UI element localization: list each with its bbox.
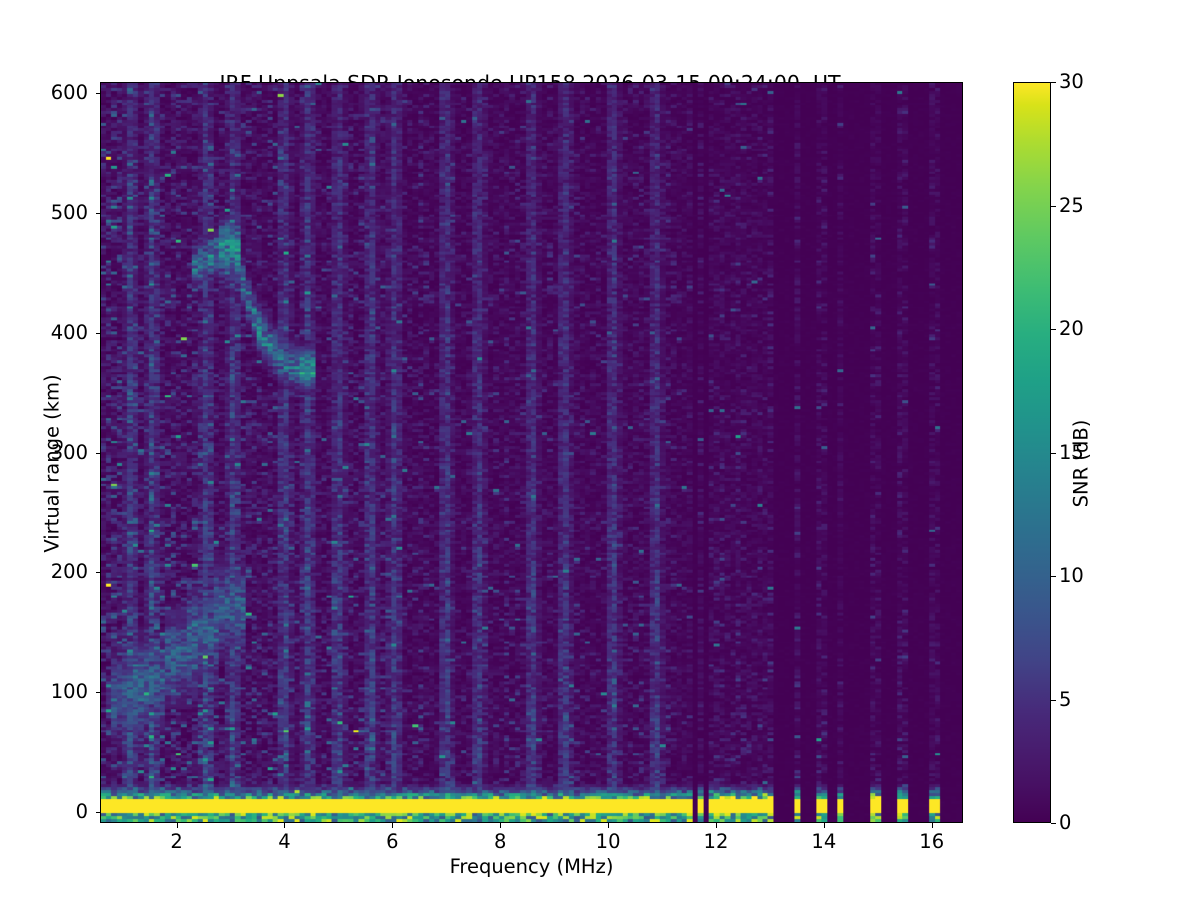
y-tick <box>96 692 101 693</box>
colorbar <box>1013 82 1051 823</box>
x-tick <box>177 823 178 828</box>
colorbar-tick <box>1051 329 1056 330</box>
ionogram-figure: IRF Uppsala SDR Ionosonde UP158 2026-03-… <box>0 0 1200 900</box>
y-tick <box>96 333 101 334</box>
y-tick <box>96 93 101 94</box>
colorbar-tick <box>1051 576 1056 577</box>
colorbar-tick <box>1051 82 1056 83</box>
y-axis-label: Virtual range (km) <box>41 64 64 864</box>
x-tick <box>500 823 501 828</box>
x-tick-label: 4 <box>254 830 314 854</box>
x-tick-label: 14 <box>794 830 854 854</box>
x-tick <box>716 823 717 828</box>
x-tick-label: 8 <box>470 830 530 854</box>
x-axis-label: Frequency (MHz) <box>100 855 963 878</box>
x-tick <box>824 823 825 828</box>
colorbar-tick <box>1051 453 1056 454</box>
colorbar-tick <box>1051 823 1056 824</box>
x-tick-label: 2 <box>147 830 207 854</box>
x-tick-label: 10 <box>578 830 638 854</box>
plot-axes <box>100 82 963 823</box>
x-tick-label: 12 <box>686 830 746 854</box>
colorbar-tick <box>1051 700 1056 701</box>
x-tick <box>608 823 609 828</box>
y-tick <box>96 812 101 813</box>
y-tick <box>96 453 101 454</box>
colorbar-label: SNR (dB) <box>1070 214 1093 714</box>
x-tick <box>932 823 933 828</box>
x-tick-label: 6 <box>362 830 422 854</box>
colorbar-tick-label: 30 <box>1059 70 1084 94</box>
x-tick-label: 16 <box>902 830 962 854</box>
colorbar-tick <box>1051 206 1056 207</box>
y-tick <box>96 572 101 573</box>
y-tick <box>96 213 101 214</box>
x-tick <box>392 823 393 828</box>
x-tick <box>284 823 285 828</box>
ionogram-heatmap <box>101 83 962 822</box>
colorbar-tick-label: 0 <box>1059 811 1071 835</box>
